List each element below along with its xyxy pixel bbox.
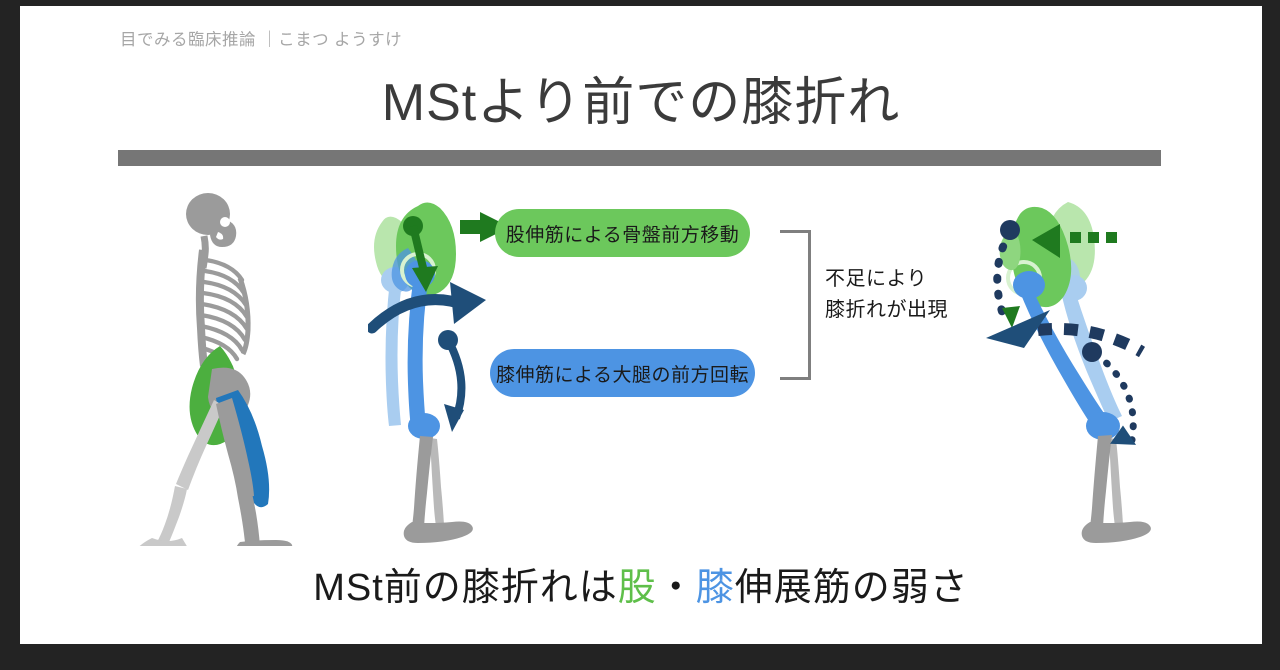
grouping-bracket (780, 230, 811, 380)
slide-frame: 目でみる臨床推論 ｜こまつ ようすけ MStより前での膝折れ (0, 0, 1280, 670)
knee-extensor-pill[interactable]: 膝伸筋による大腿の前方回転 (490, 349, 755, 397)
caption-part2: 伸展筋の弱さ (735, 567, 969, 609)
caption-knee: 膝 (696, 567, 735, 609)
hip-extensor-pill-label: 股伸筋による骨盤前方移動 (506, 220, 739, 247)
caption-separator: ・ (657, 567, 696, 609)
title-divider (118, 150, 1161, 166)
walking-skeleton-figure (128, 186, 338, 546)
slide-canvas: 目でみる臨床推論 ｜こまつ ようすけ MStより前での膝折れ (20, 6, 1262, 644)
bracket-note: 不足により 膝折れが出現 (825, 264, 948, 326)
breadcrumb: 目でみる臨床推論 ｜こまつ ようすけ (120, 26, 402, 50)
bracket-note-line2: 膝折れが出現 (825, 295, 948, 326)
hip-extensor-pill[interactable]: 股伸筋による骨盤前方移動 (495, 209, 750, 257)
summary-caption: MSt前の膝折れは股・膝伸展筋の弱さ (20, 556, 1262, 611)
buckling-mechanics-figure (972, 188, 1172, 546)
knee-extensor-pill-label: 膝伸筋による大腿の前方回転 (496, 360, 749, 387)
caption-part1: MSt前の膝折れは (313, 567, 618, 609)
bracket-note-line1: 不足により (825, 264, 948, 295)
ghost-femur (386, 280, 403, 426)
knee-rotation-arrow (438, 330, 464, 432)
page-title: MStより前での膝折れ (20, 60, 1262, 135)
caption-hip: 股 (618, 567, 657, 609)
